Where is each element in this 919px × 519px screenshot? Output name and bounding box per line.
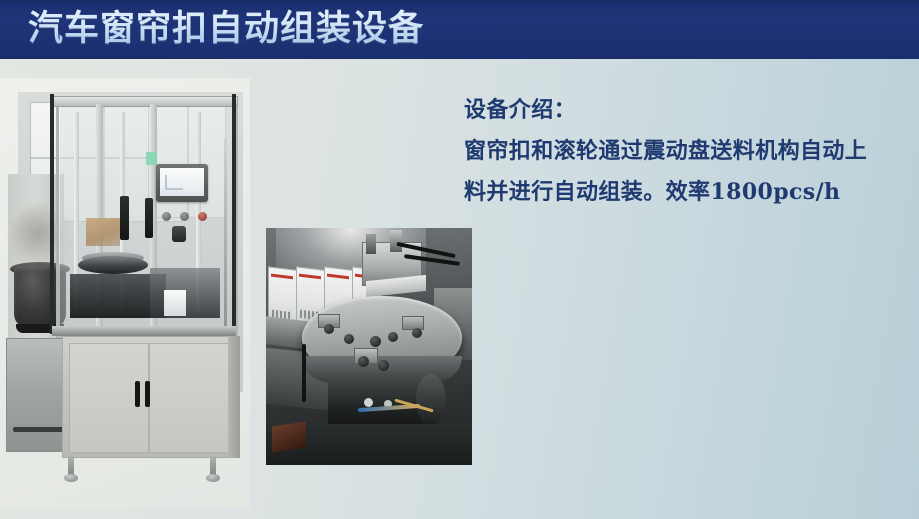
- motor-fitting-1: [364, 398, 373, 407]
- pneumatic-cylinder-1: [366, 234, 376, 254]
- enclosure-top-rail: [52, 96, 238, 107]
- equipment-description: 设备介绍： 窗帘扣和滚轮通过震动盘送料机构自动上 料并进行自动组装。效率1800…: [464, 90, 912, 213]
- enclosure-left-edge: [50, 94, 54, 334]
- machine-photo: [0, 78, 250, 508]
- cabinet-door-right: [149, 343, 229, 453]
- internal-dark-column-2: [145, 198, 153, 238]
- emergency-stop-button: [198, 212, 207, 221]
- control-button-1: [162, 212, 171, 221]
- dial-nest-3: [370, 336, 381, 347]
- control-switch-block: [172, 226, 186, 242]
- internal-rotary-table: [78, 256, 148, 274]
- dial-nest-6: [358, 356, 369, 367]
- air-tube-3: [302, 344, 306, 402]
- control-button-2: [180, 212, 189, 221]
- slide-canvas: 汽车窗帘扣自动组装设备: [0, 0, 919, 519]
- dial-nest-2: [344, 334, 354, 344]
- machine-leveling-foot-left: [68, 456, 74, 478]
- hmi-screen: [160, 168, 204, 196]
- internal-carton-box: [86, 218, 120, 246]
- motor-end-cap: [416, 374, 446, 426]
- cabinet-handle-right: [145, 381, 150, 407]
- floor-object: [272, 422, 306, 453]
- dial-nest-5: [412, 328, 422, 338]
- rotary-table-photo: [266, 228, 472, 465]
- dial-nest-7: [378, 360, 389, 371]
- pneumatic-cylinder-2: [390, 230, 402, 252]
- machine-lower-cabinet: [62, 336, 232, 458]
- dial-fixture-block-3: [402, 316, 424, 330]
- hmi-touchscreen-bezel: [156, 164, 208, 202]
- description-heading: 设备介绍：: [464, 90, 912, 131]
- description-line-2: 料并进行自动组装。效率1800pcs/h: [464, 172, 912, 213]
- internal-dark-column-1: [120, 196, 129, 240]
- internal-white-block: [164, 290, 186, 316]
- machine-leveling-foot-right: [210, 456, 216, 478]
- dial-nest-4: [388, 332, 398, 342]
- green-label-sticker: [146, 152, 157, 165]
- enclosure-guide-rod: [224, 138, 227, 333]
- enclosure-right-edge: [232, 94, 236, 334]
- cabinet-side-panel: [228, 336, 240, 458]
- page-title: 汽车窗帘扣自动组装设备: [28, 5, 424, 53]
- enclosure-bottom-rail: [52, 326, 236, 336]
- slide-header-band: 汽车窗帘扣自动组装设备: [0, 0, 919, 59]
- description-line-1: 窗帘扣和滚轮通过震动盘送料机构自动上: [464, 131, 912, 172]
- dial-nest-1: [324, 324, 334, 334]
- cabinet-handle-left: [135, 381, 140, 407]
